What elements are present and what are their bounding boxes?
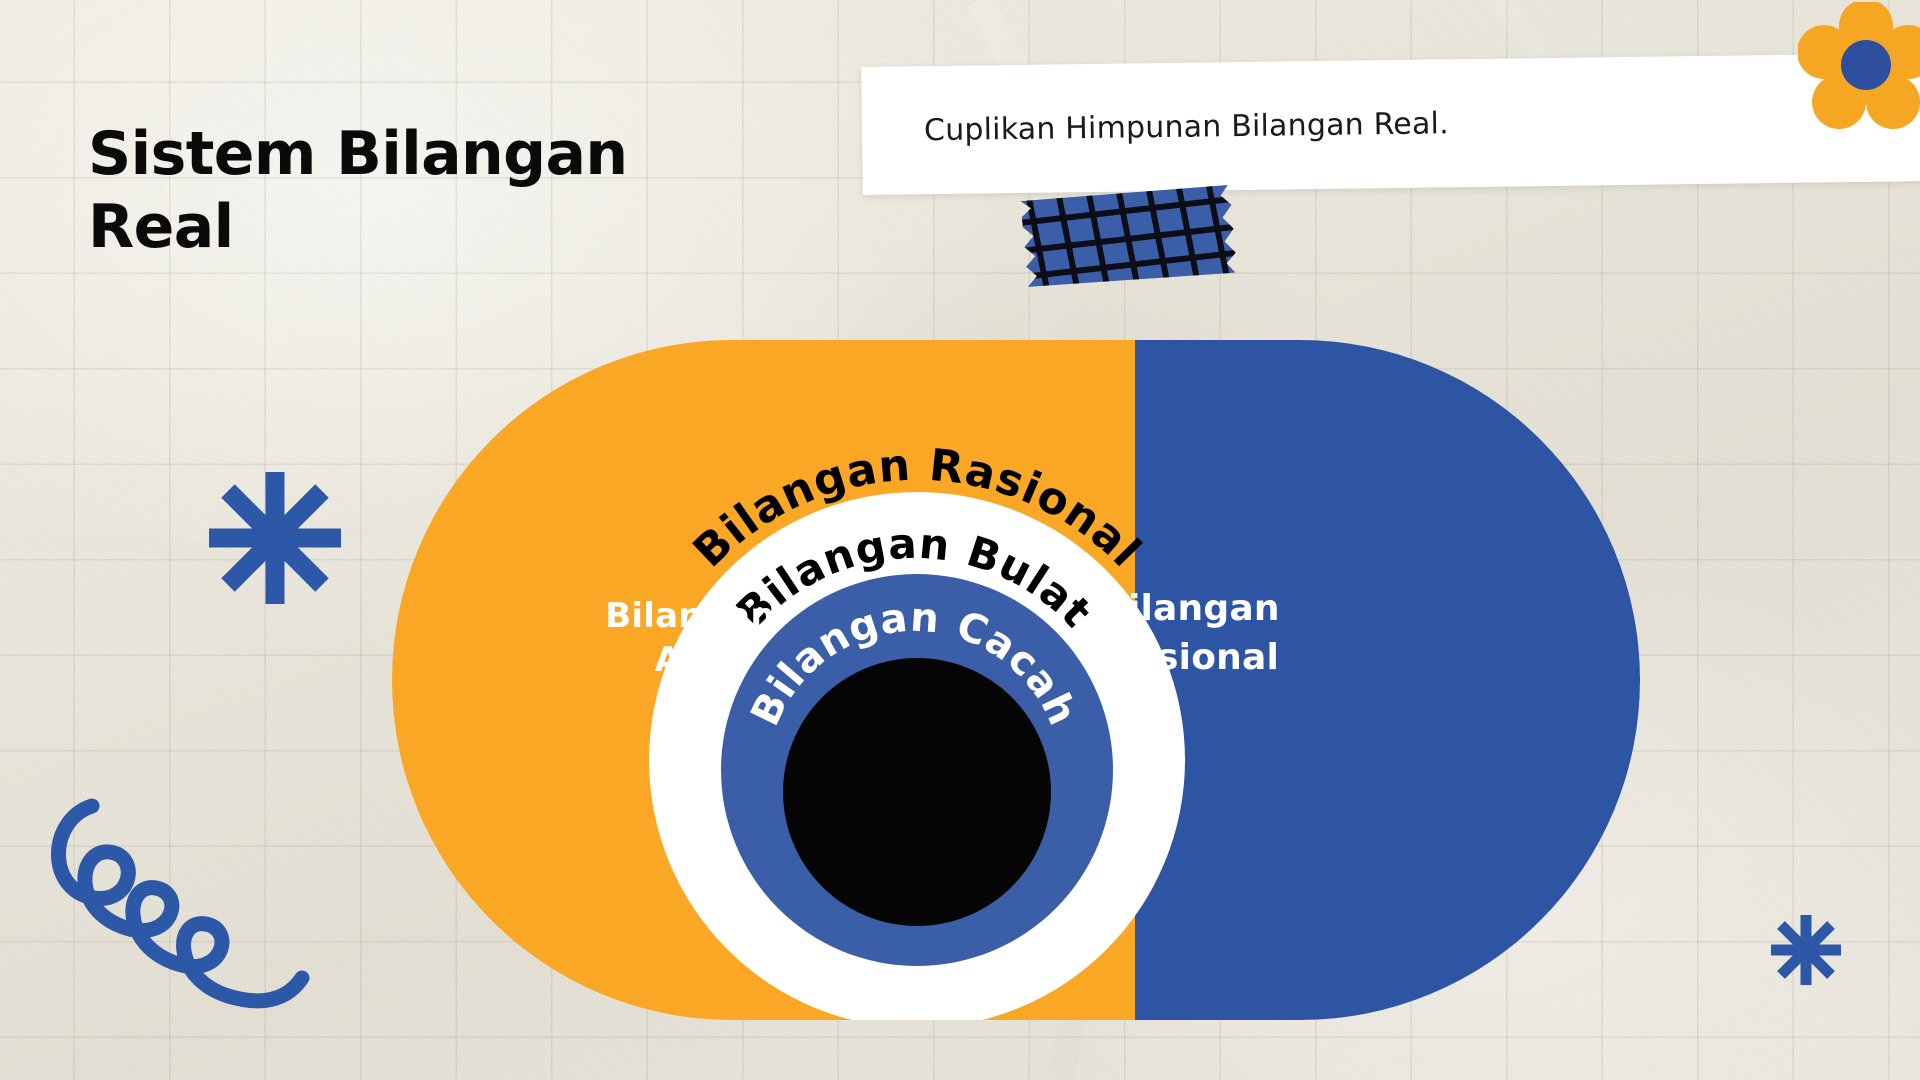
slide-canvas: Sistem Bilangan Real Cuplikan Himpunan B…	[0, 0, 1920, 1080]
label-bilangan-asli: Bilangan Asli	[565, 595, 815, 682]
spiral-doodle-icon	[40, 760, 330, 1020]
washi-tape-icon	[1014, 183, 1239, 294]
asterisk-icon	[1768, 912, 1844, 988]
label-bilangan-irasional: Bilangan Irasional	[1040, 585, 1340, 682]
caption-card: Cuplikan Himpunan Bilangan Real.	[861, 53, 1920, 195]
page-title: Sistem Bilangan Real	[88, 118, 728, 264]
caption-text: Cuplikan Himpunan Bilangan Real.	[924, 106, 1449, 148]
flower-icon	[1798, 2, 1920, 138]
page-title-line-2: Real	[88, 191, 728, 264]
asterisk-icon	[205, 468, 345, 608]
page-title-line-1: Sistem Bilangan	[88, 118, 728, 191]
set-asli-ring	[783, 658, 1051, 926]
